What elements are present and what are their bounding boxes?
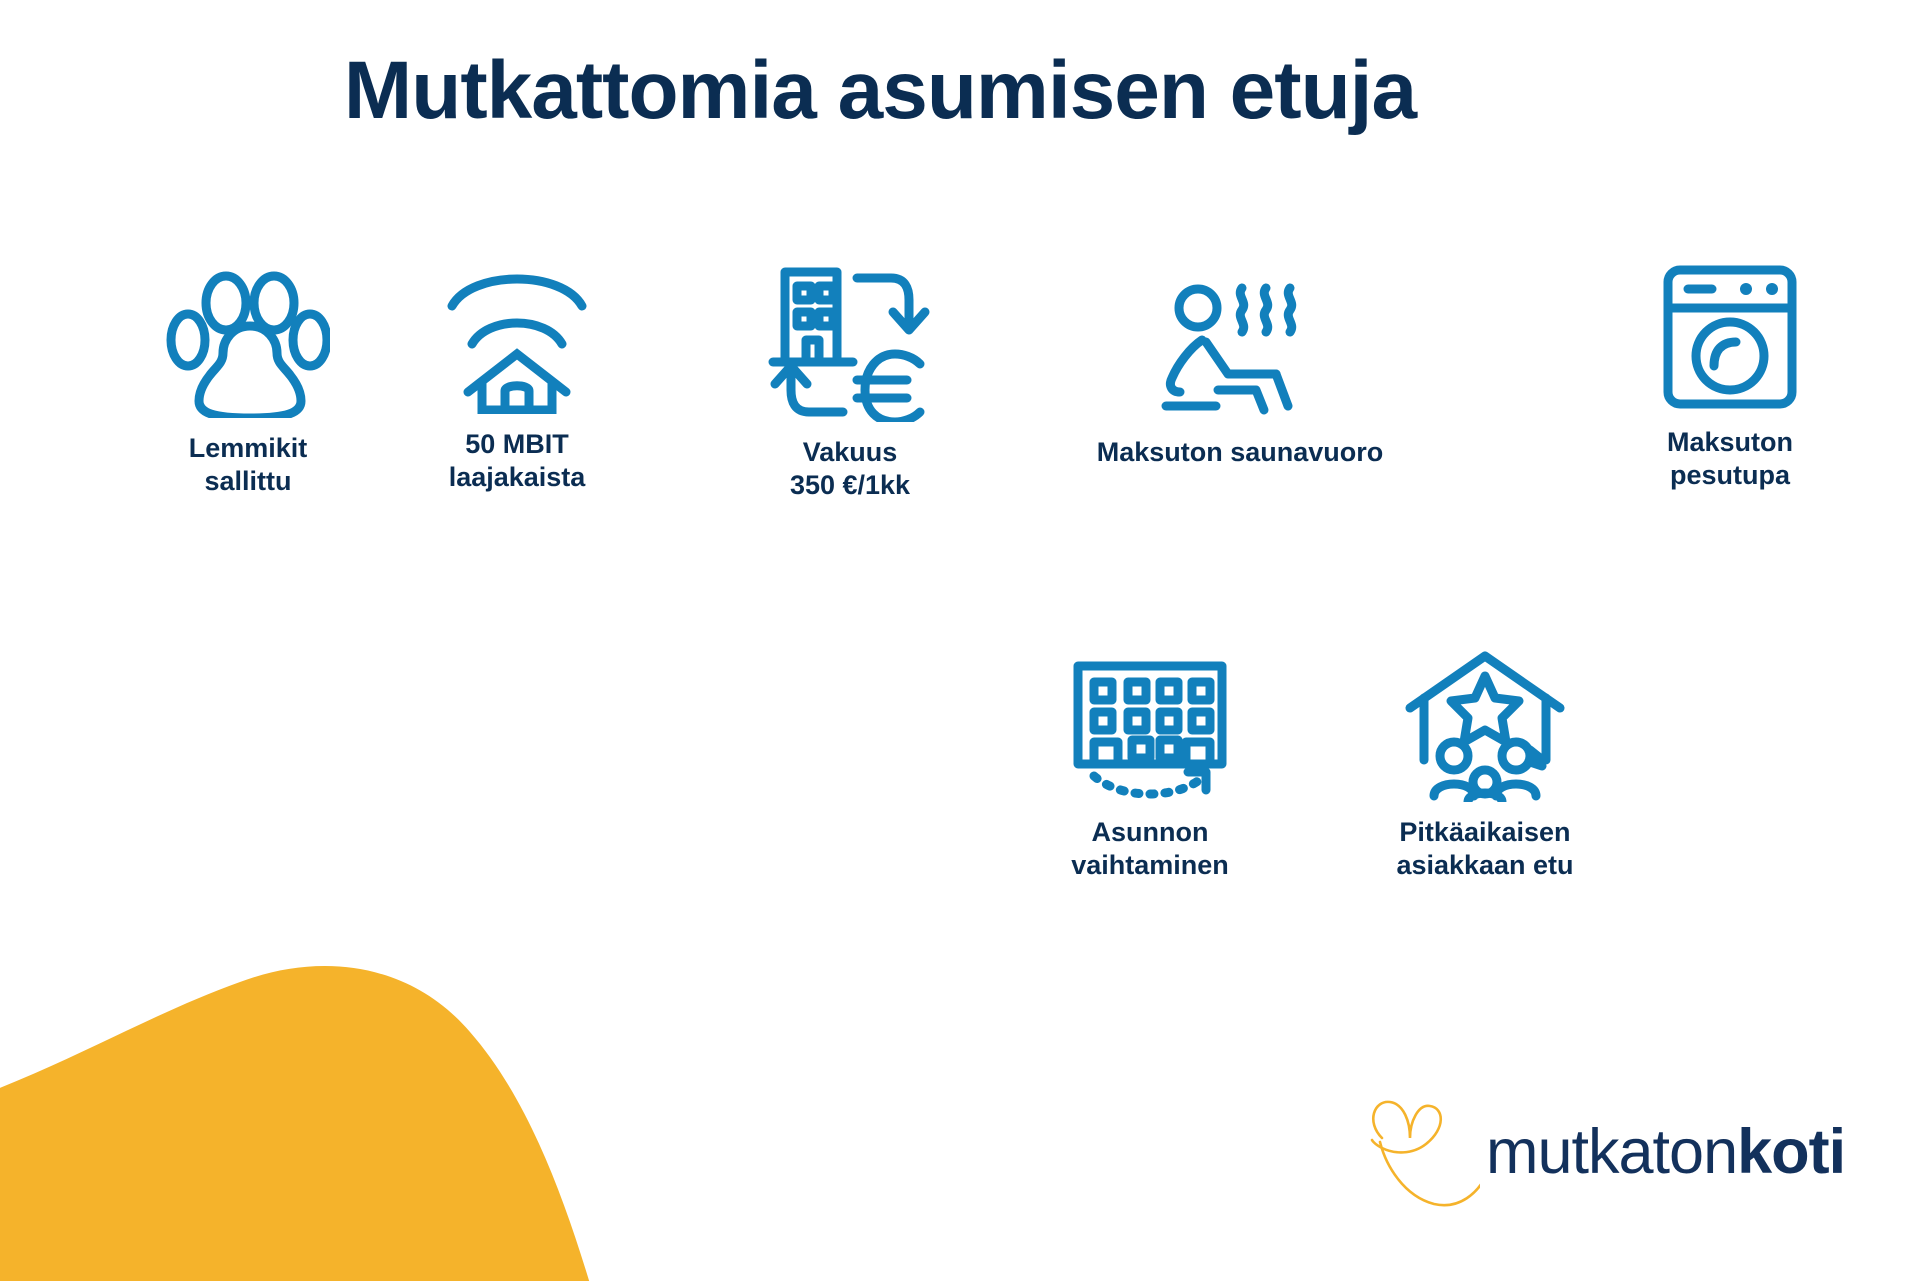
benefit-broadband: 50 MBIT laajakaista bbox=[392, 262, 642, 495]
sauna-person-steam-icon bbox=[1160, 282, 1320, 422]
benefit-icon-slot bbox=[1070, 660, 1230, 802]
wifi-house-icon bbox=[442, 262, 592, 414]
logo-word-light: mutkaton bbox=[1486, 1117, 1737, 1187]
benefit-icon-slot bbox=[166, 268, 330, 418]
benefit-label: Maksuton pesutupa bbox=[1667, 426, 1793, 493]
benefit-label: Vakuus 350 €/1kk bbox=[790, 436, 910, 503]
washing-machine-icon bbox=[1660, 262, 1800, 412]
benefit-icon-slot bbox=[1160, 282, 1320, 422]
benefit-label: Maksuton saunavuoro bbox=[1097, 436, 1384, 469]
benefit-label: Lemmikit sallittu bbox=[189, 432, 308, 499]
infographic-canvas: Mutkattomia asumisen etuja Lemmikit sall… bbox=[0, 0, 1920, 1281]
brand-logo[interactable]: mutkatonkoti bbox=[1360, 1092, 1845, 1212]
logo-wordmark: mutkatonkoti bbox=[1486, 1121, 1845, 1184]
benefit-icon-slot bbox=[442, 262, 592, 414]
benefit-label: Pitkäaikaisen asiakkaan etu bbox=[1396, 816, 1573, 883]
benefit-label: 50 MBIT laajakaista bbox=[449, 428, 586, 495]
benefit-icon-slot bbox=[765, 262, 935, 422]
benefit-label: Asunnon vaihtaminen bbox=[1071, 816, 1229, 883]
yellow-blob-shape bbox=[0, 960, 700, 1281]
benefit-apartment-swap: Asunnon vaihtaminen bbox=[1000, 660, 1300, 883]
benefit-sauna: Maksuton saunavuoro bbox=[1030, 282, 1450, 469]
heart-swoosh-logo-mark bbox=[1360, 1092, 1480, 1212]
paw-print-icon bbox=[166, 268, 330, 418]
benefit-icon-slot bbox=[1660, 262, 1800, 412]
page-title: Mutkattomia asumisen etuja bbox=[0, 44, 1760, 138]
benefit-deposit: Vakuus 350 €/1kk bbox=[700, 262, 1000, 503]
building-euro-exchange-icon bbox=[765, 262, 935, 422]
benefit-pets: Lemmikit sallittu bbox=[128, 268, 368, 499]
benefit-icon-slot bbox=[1402, 650, 1568, 802]
apartment-building-arrow-icon bbox=[1070, 660, 1230, 802]
benefit-loyalty: Pitkäaikaisen asiakkaan etu bbox=[1320, 650, 1650, 883]
benefit-laundry: Maksuton pesutupa bbox=[1580, 262, 1880, 493]
logo-word-bold: koti bbox=[1737, 1117, 1845, 1187]
house-star-family-icon bbox=[1402, 650, 1568, 802]
